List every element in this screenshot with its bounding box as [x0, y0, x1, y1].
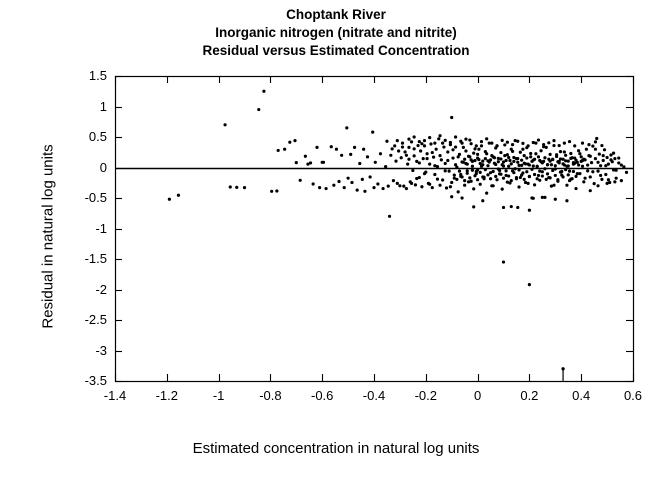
- x-tick-label: 0.6: [610, 388, 656, 403]
- x-tick-label: -0.2: [403, 388, 449, 403]
- y-tick-label: 0: [63, 161, 107, 175]
- y-tick-label: -3.5: [63, 374, 107, 388]
- y-tick-label: -2: [63, 283, 107, 297]
- y-tick-label: -1.5: [63, 252, 107, 266]
- axes-frame: [116, 77, 634, 382]
- y-tick-label: 1.5: [63, 69, 107, 83]
- x-tick-label: -1.2: [144, 388, 190, 403]
- tick-marks: [115, 76, 634, 382]
- x-tick-label: 0: [455, 388, 501, 403]
- x-tick-label: -1: [196, 388, 242, 403]
- x-tick-label: -0.8: [247, 388, 293, 403]
- x-tick-label: 0.4: [558, 388, 604, 403]
- x-tick-label: -0.4: [351, 388, 397, 403]
- x-tick-label: -1.4: [92, 388, 138, 403]
- x-tick-label: -0.6: [299, 388, 345, 403]
- chart-canvas: Choptank River Inorganic nitrogen (nitra…: [0, 0, 672, 480]
- data-points: [168, 90, 628, 381]
- y-tick-label: -2.5: [63, 313, 107, 327]
- y-tick-label: -0.5: [63, 191, 107, 205]
- y-tick-label: 0.5: [63, 130, 107, 144]
- y-tick-label: 1: [63, 100, 107, 114]
- y-tick-label: -1: [63, 222, 107, 236]
- x-tick-label: 0.2: [506, 388, 552, 403]
- y-tick-label: -3: [63, 344, 107, 358]
